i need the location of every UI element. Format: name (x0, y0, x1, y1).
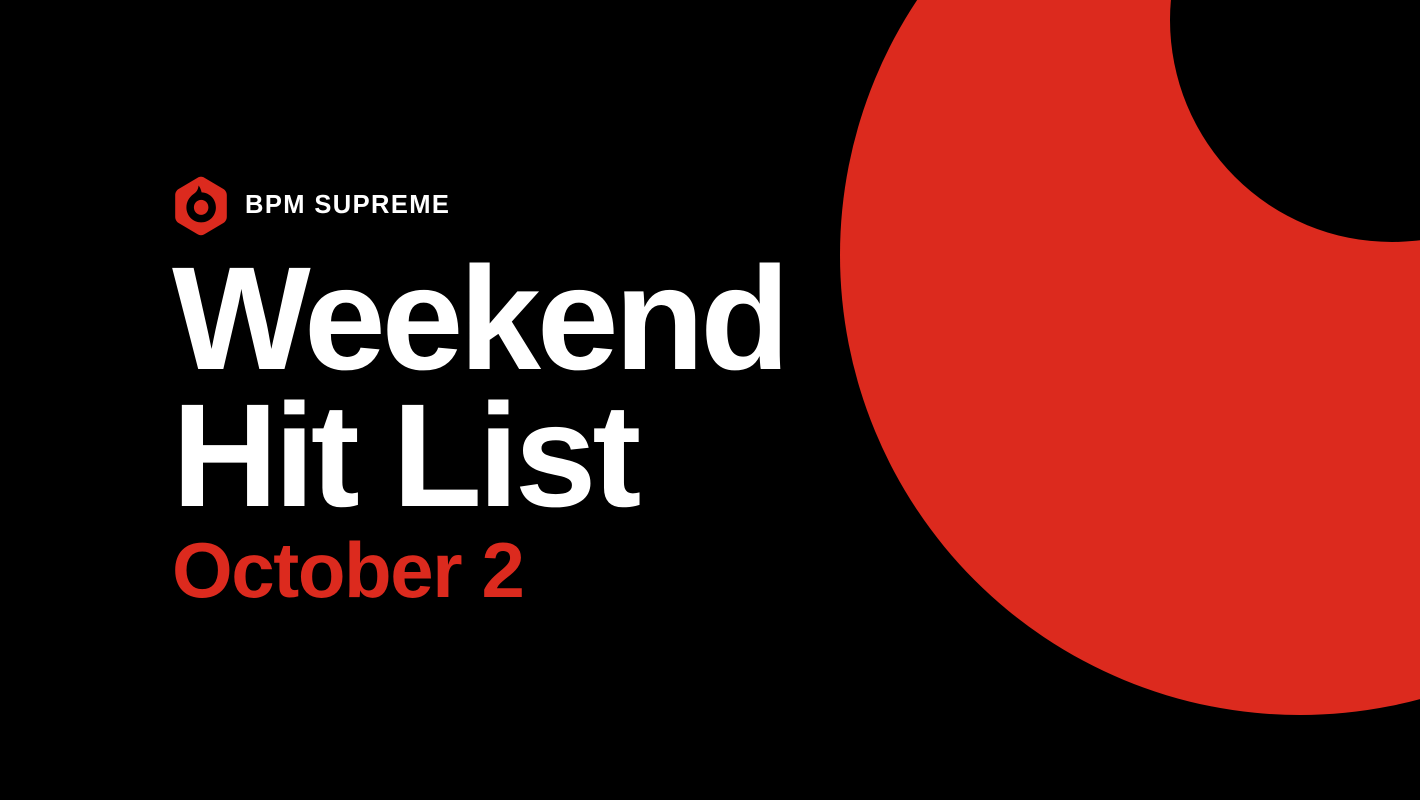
brand-lockup: BPM SUPREME (173, 176, 450, 236)
headline-line-2: Hit List (172, 389, 872, 524)
brand-name: BPM SUPREME (245, 193, 450, 219)
poster-canvas: BPM SUPREME Weekend Hit List October 2 (0, 0, 1420, 800)
bpm-supreme-hexagon-b-logo-icon (173, 176, 229, 236)
headline-line-1: Weekend (172, 252, 872, 387)
date-label: October 2 (172, 531, 523, 609)
headline: Weekend Hit List (172, 252, 872, 524)
